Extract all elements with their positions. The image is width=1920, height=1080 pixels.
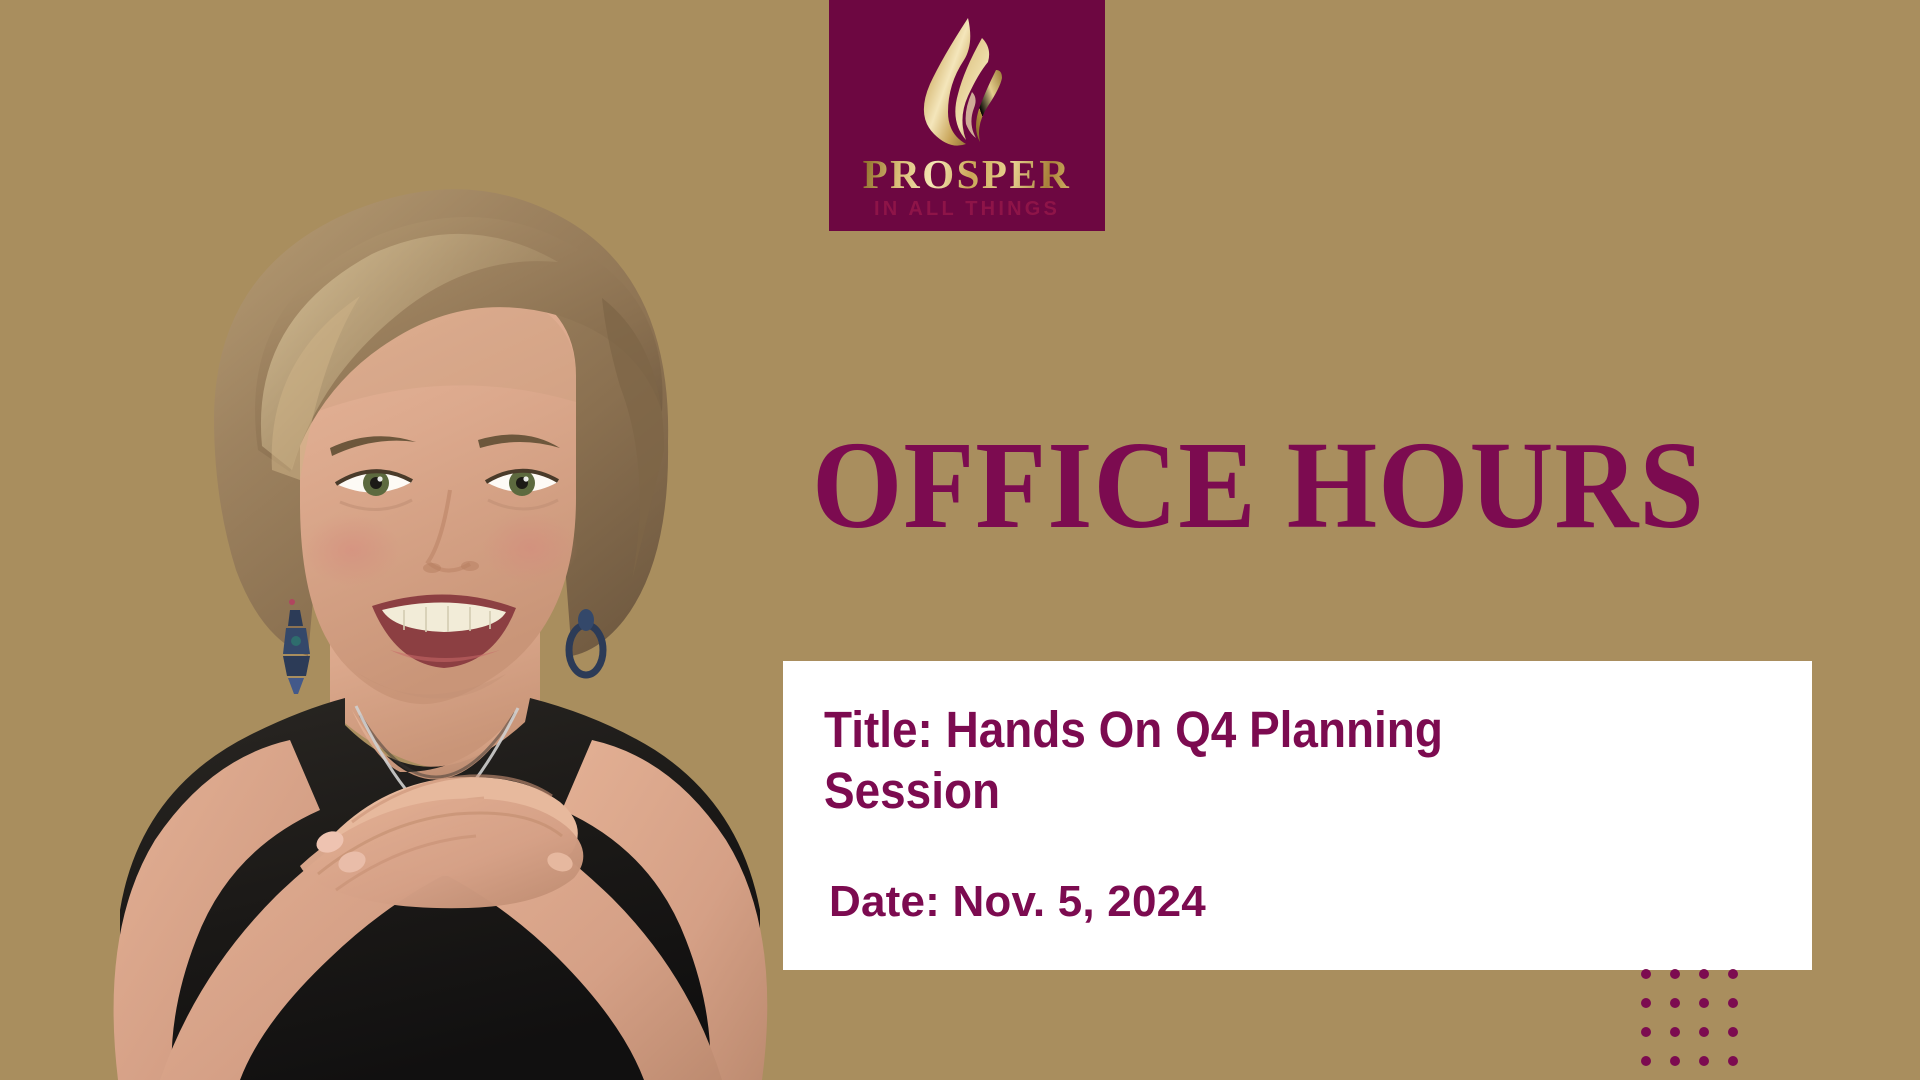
page-title: OFFICE HOURS [812,423,1705,551]
session-info-card: Title: Hands On Q4 Planning Session Date… [783,661,1812,970]
decorative-dot [1641,998,1651,1008]
decorative-dot [1699,1027,1709,1037]
decorative-dot [1699,969,1709,979]
decorative-dot [1670,1056,1680,1066]
decorative-dot [1670,1027,1680,1037]
logo-tagline: IN ALL THINGS [874,198,1060,221]
session-title: Title: Hands On Q4 Planning Session [824,700,1580,821]
dot-grid-decoration [1641,969,1771,1080]
prosper-logo-panel: PROSPER IN ALL THINGS [829,0,1105,231]
presenter-portrait [0,150,860,1080]
decorative-dot [1699,998,1709,1008]
flame-icon [908,12,1026,152]
promo-slide: PROSPER IN ALL THINGS OFFICE HOURS Title… [0,0,1920,1080]
decorative-dot [1699,1056,1709,1066]
decorative-dot [1641,1056,1651,1066]
decorative-dot [1728,1056,1738,1066]
decorative-dot [1641,969,1651,979]
session-date: Date: Nov. 5, 2024 [829,880,1206,924]
decorative-dot [1728,1027,1738,1037]
decorative-dot [1728,969,1738,979]
decorative-dot [1670,998,1680,1008]
logo-wordmark: PROSPER [863,154,1072,195]
decorative-dot [1670,969,1680,979]
decorative-dot [1728,998,1738,1008]
decorative-dot [1641,1027,1651,1037]
